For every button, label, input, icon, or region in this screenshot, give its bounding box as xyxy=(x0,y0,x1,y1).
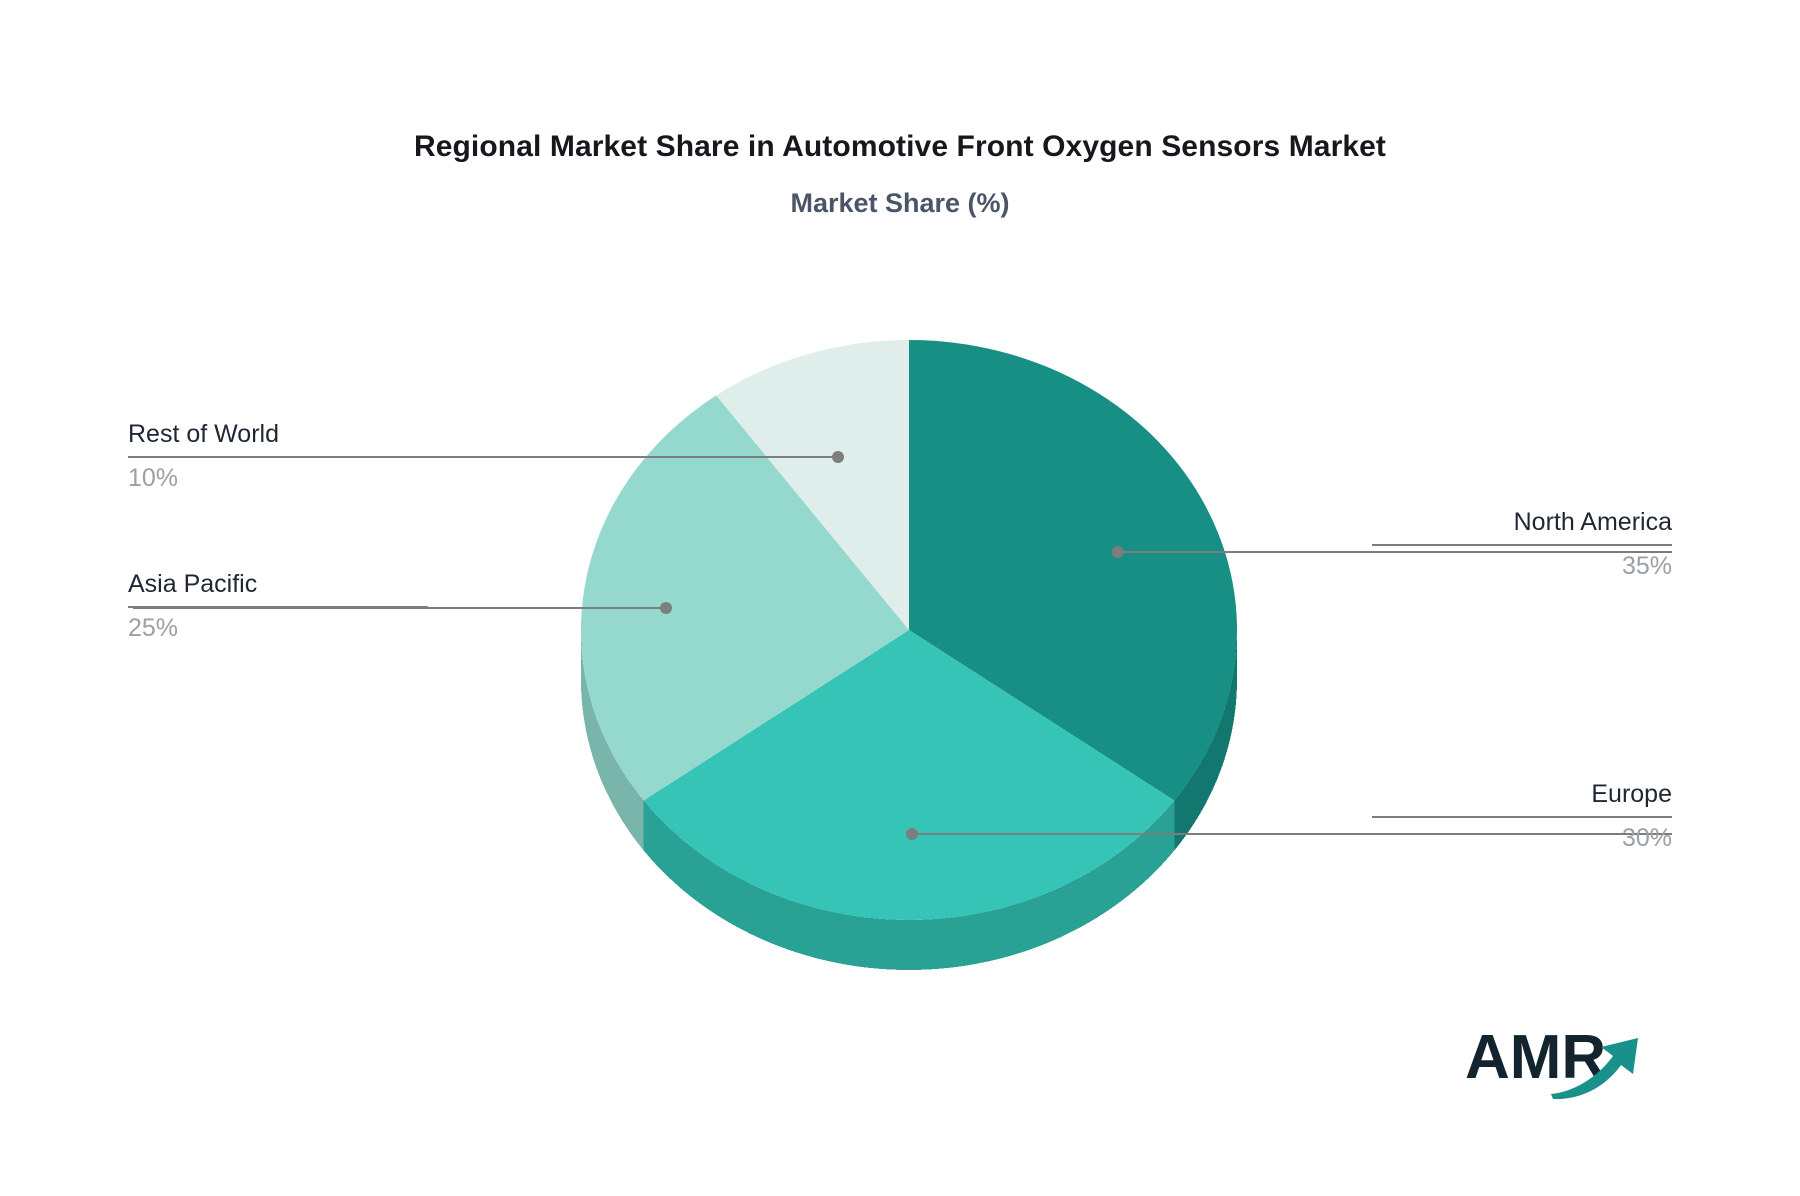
pie-side-europe xyxy=(814,908,823,960)
pie-side-asia-pacific xyxy=(626,777,630,833)
pie-side-europe xyxy=(1013,902,1022,955)
pie-side-asia-pacific xyxy=(587,684,589,741)
pie-side-europe xyxy=(644,800,650,857)
pie-side-europe xyxy=(696,851,703,906)
pie-side-europe xyxy=(675,833,682,889)
pie-side-europe xyxy=(1004,905,1013,958)
pie-side-europe xyxy=(1169,800,1175,857)
pie-side-europe xyxy=(1129,839,1136,895)
pie-side-europe xyxy=(899,920,909,970)
pie-side-europe xyxy=(957,915,967,966)
amr-logo-text: AMR xyxy=(1465,1023,1606,1092)
pie-side-europe xyxy=(1143,827,1150,883)
pie-side-europe xyxy=(786,899,795,952)
pie-side-north-america xyxy=(1232,673,1234,733)
pie-side-asia-pacific xyxy=(630,783,634,839)
pie-side-asia-pacific xyxy=(602,732,605,789)
chart-canvas: Regional Market Share in Automotive Fron… xyxy=(0,0,1800,1196)
pie-side-europe xyxy=(769,892,778,946)
callout-rule-asia-pacific xyxy=(128,606,428,608)
pie-side-north-america xyxy=(1181,784,1187,842)
pie-side-north-america xyxy=(1208,740,1212,799)
pie-side-europe xyxy=(1032,896,1041,949)
pie-side-europe xyxy=(995,908,1004,960)
pie-side-europe xyxy=(752,884,761,938)
pie-side-europe xyxy=(880,919,890,970)
pie-slice-rest-of-world[interactable] xyxy=(716,340,909,630)
pie-side-europe xyxy=(760,888,769,942)
leader-dot-europe xyxy=(906,828,918,840)
pie-side-asia-pacific xyxy=(585,677,586,734)
pie-side-europe xyxy=(938,918,948,969)
callout-rest-of-world[interactable]: Rest of World 10% xyxy=(128,420,428,493)
pie-side-asia-pacific xyxy=(582,656,583,713)
callout-value-rest-of-world: 10% xyxy=(128,464,428,493)
leader-dot-asia-pacific xyxy=(660,602,672,614)
pie-side-north-america xyxy=(1227,692,1230,752)
pie-side-europe xyxy=(668,827,675,883)
pie-side-europe xyxy=(655,814,661,871)
pie-side-asia-pacific xyxy=(588,691,590,748)
amr-logo: AMR xyxy=(1465,1020,1655,1100)
pie-side-europe xyxy=(1091,866,1099,921)
pie-side-north-america xyxy=(1217,721,1221,780)
pie-side-europe xyxy=(795,902,804,955)
pie-side-north-america xyxy=(1229,682,1231,742)
pie-side-europe xyxy=(805,905,814,958)
pie-depth-walls xyxy=(581,627,1237,970)
pie-side-europe xyxy=(870,918,880,969)
pie-side-north-america xyxy=(1198,758,1203,817)
pie-side-asia-pacific xyxy=(608,745,611,801)
pie-side-europe xyxy=(823,910,832,962)
pie-side-asia-pacific xyxy=(584,670,585,727)
pie-side-asia-pacific xyxy=(582,648,583,705)
pie-side-europe xyxy=(1156,814,1162,871)
pie-side-europe xyxy=(1150,820,1156,876)
pie-side-europe xyxy=(1107,856,1115,911)
pie-side-europe xyxy=(1049,888,1058,942)
pie-side-asia-pacific xyxy=(639,795,644,851)
pie-side-asia-pacific xyxy=(599,725,602,782)
pie-side-europe xyxy=(1058,884,1067,938)
pie-side-north-america xyxy=(1220,711,1223,771)
pie-slice-europe[interactable] xyxy=(644,630,1175,920)
pie-side-europe xyxy=(832,912,841,964)
pie-side-north-america xyxy=(1203,749,1208,808)
pie-side-europe xyxy=(703,856,711,911)
pie-side-north-america xyxy=(1235,653,1236,713)
pie-side-europe xyxy=(649,807,655,864)
pie-top-face xyxy=(581,340,1237,920)
pie-side-europe xyxy=(842,914,851,966)
pie-side-north-america xyxy=(1233,663,1234,723)
pie-side-europe xyxy=(743,880,751,934)
pie-side-asia-pacific xyxy=(592,705,594,762)
leader-dot-rest-of-world xyxy=(832,451,844,463)
leader-dot-north-america xyxy=(1112,546,1124,558)
pie-side-europe xyxy=(851,915,861,966)
pie-slice-asia-pacific[interactable] xyxy=(581,395,909,800)
pie-side-europe xyxy=(1136,833,1143,889)
pie-slice-north-america[interactable] xyxy=(909,340,1237,800)
pie-side-europe xyxy=(928,919,938,970)
pie-side-europe xyxy=(1040,892,1049,946)
pie-side-europe xyxy=(682,839,689,895)
callout-label-asia-pacific: Asia Pacific xyxy=(128,570,428,599)
pie-side-europe xyxy=(861,917,871,968)
callout-rule-europe xyxy=(1372,816,1672,818)
chart-subtitle: Market Share (%) xyxy=(0,188,1800,219)
pie-side-asia-pacific xyxy=(590,698,592,755)
pie-side-north-america xyxy=(1193,767,1198,826)
pie-side-north-america xyxy=(1187,775,1193,834)
pie-side-asia-pacific xyxy=(583,663,584,720)
callout-asia-pacific[interactable]: Asia Pacific 25% xyxy=(128,570,428,643)
callout-label-north-america: North America xyxy=(1372,508,1672,537)
callout-label-rest-of-world: Rest of World xyxy=(128,420,428,449)
callout-value-europe: 30% xyxy=(1372,824,1672,853)
pie-side-europe xyxy=(711,861,719,916)
pie-side-europe xyxy=(1083,871,1091,926)
amr-logo-svg: AMR xyxy=(1465,1020,1655,1100)
pie-side-asia-pacific xyxy=(615,758,619,814)
pie-side-europe xyxy=(1066,880,1074,934)
pie-side-asia-pacific xyxy=(605,738,608,795)
pie-side-asia-pacific xyxy=(594,711,596,768)
callout-value-asia-pacific: 25% xyxy=(128,614,428,643)
pie-side-europe xyxy=(689,845,696,901)
pie-side-europe xyxy=(948,917,958,968)
pie-side-asia-pacific xyxy=(622,770,626,826)
callout-north-america[interactable]: North America 35% xyxy=(1372,508,1672,581)
callout-value-north-america: 35% xyxy=(1372,552,1672,581)
pie-side-europe xyxy=(1122,845,1129,901)
pie-side-europe xyxy=(727,871,735,926)
callout-rule-north-america xyxy=(1372,544,1672,546)
pie-side-europe xyxy=(778,896,787,949)
page-title: Regional Market Share in Automotive Fron… xyxy=(0,130,1800,164)
pie-side-europe xyxy=(1075,876,1083,930)
pie-side-europe xyxy=(909,920,919,970)
pie-side-europe xyxy=(967,914,976,966)
pie-side-europe xyxy=(1163,807,1169,864)
pie-side-europe xyxy=(735,876,743,930)
pie-side-north-america xyxy=(1213,730,1217,789)
pie-side-europe xyxy=(719,866,727,921)
pie-side-europe xyxy=(662,820,668,876)
pie-side-europe xyxy=(890,919,900,969)
pie-side-europe xyxy=(1115,851,1122,906)
pie-side-north-america xyxy=(1174,792,1180,850)
pie-side-europe xyxy=(1023,899,1032,952)
pie-side-asia-pacific xyxy=(611,751,614,807)
pie-side-asia-pacific xyxy=(597,718,600,775)
callout-rule-rest-of-world xyxy=(128,456,428,458)
pie-side-north-america xyxy=(1236,643,1237,703)
callout-label-europe: Europe xyxy=(1372,780,1672,809)
pie-side-europe xyxy=(1099,861,1107,916)
pie-side-europe xyxy=(986,910,995,962)
pie-side-asia-pacific xyxy=(635,789,639,845)
pie-side-europe xyxy=(919,919,929,969)
callout-europe[interactable]: Europe 30% xyxy=(1372,780,1672,853)
pie-side-asia-pacific xyxy=(618,764,622,820)
pie-side-europe xyxy=(976,912,985,964)
pie-side-north-america xyxy=(1224,702,1227,762)
